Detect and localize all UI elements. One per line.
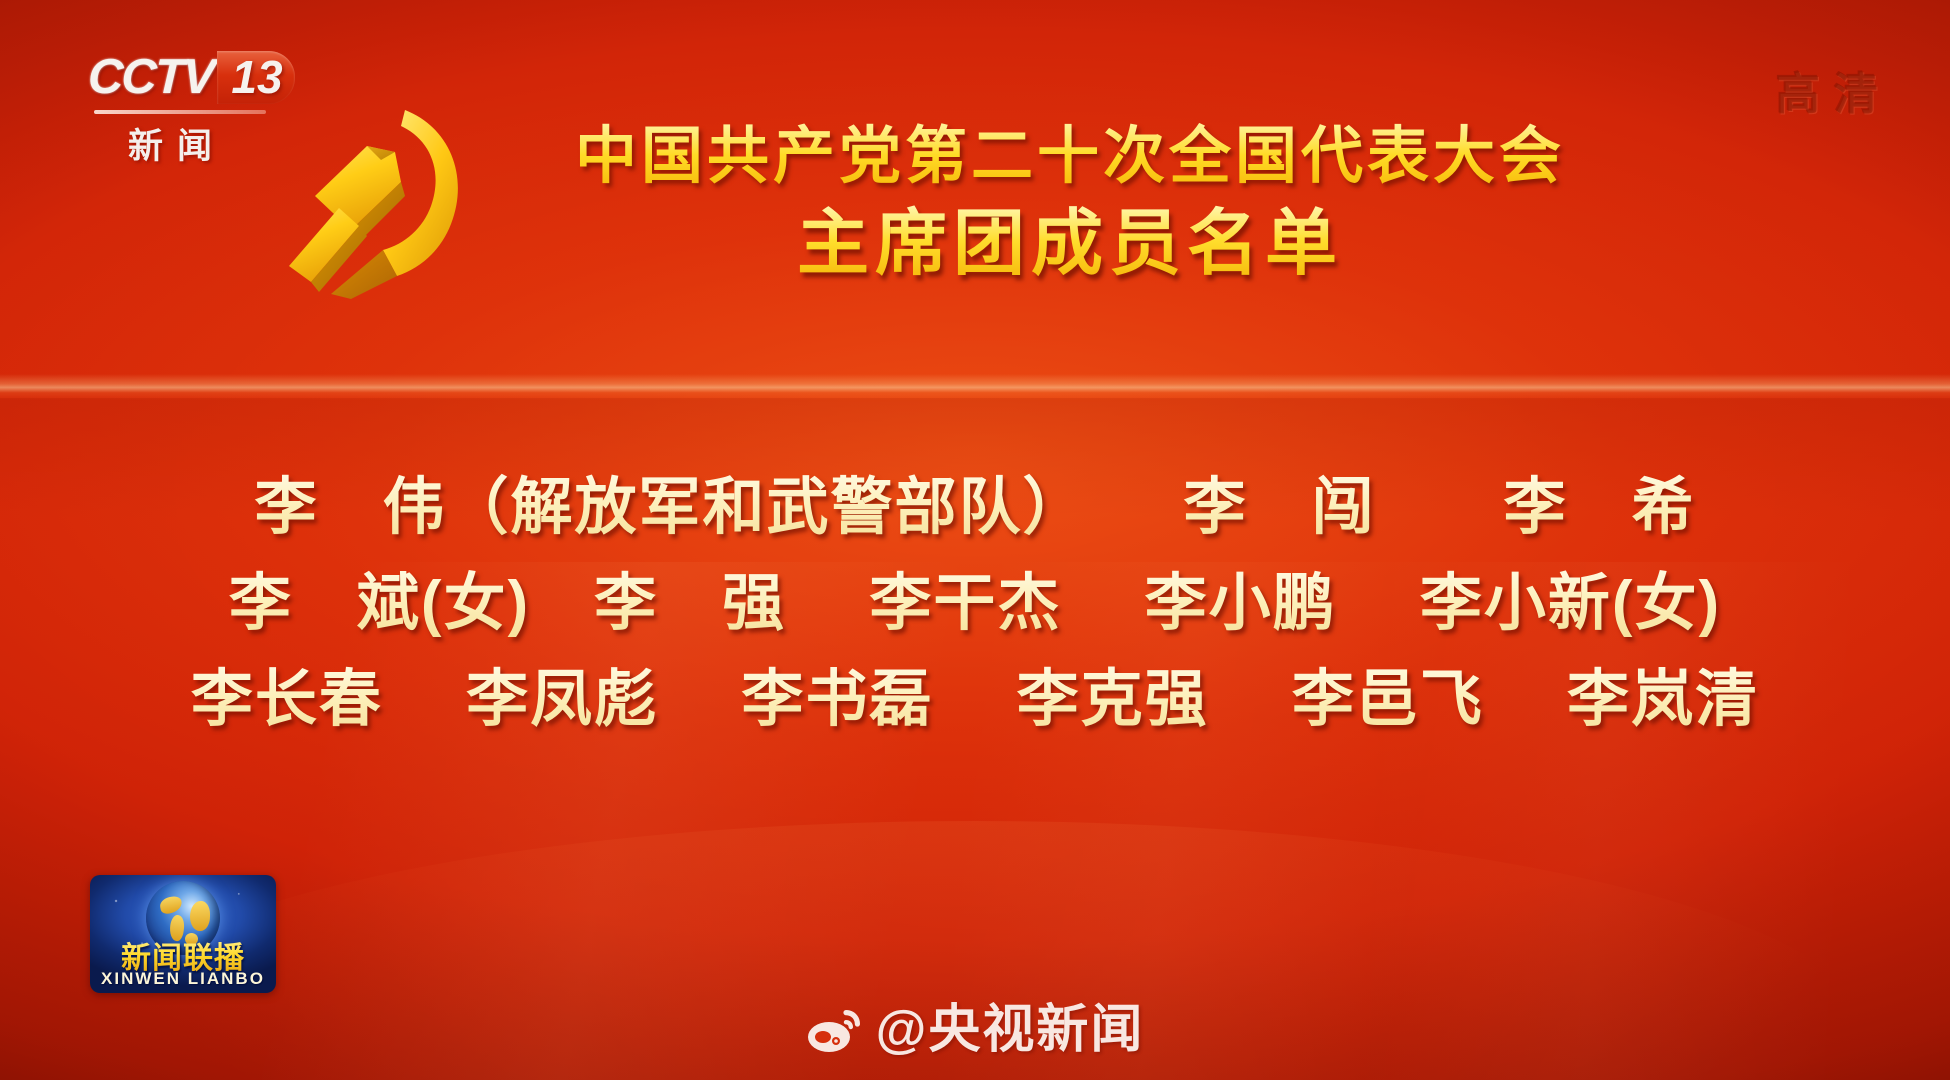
cctv-letters: CCTV — [87, 53, 214, 102]
presidium-name-list: 李 伟（解放军和武警部队） 李 闯 李 希 李 斌(女) 李 强 李干杰 李小鹏… — [0, 460, 1950, 748]
header-title-block: 中国共产党第二十次全国代表大会 主席团成员名单 — [480, 120, 1660, 286]
name-row: 李长春 李凤彪 李书磊 李克强 李邑飞 李岚清 — [0, 652, 1950, 748]
social-watermark: @央视新闻 — [0, 1004, 1950, 1056]
congress-title: 中国共产党第二十次全国代表大会 — [480, 120, 1660, 193]
cctv-sub-label: 新闻 — [128, 118, 226, 169]
cctv-wordmark: CCTV 13 — [88, 48, 328, 106]
hammer-and-sickle-icon — [255, 104, 470, 299]
globe-landmass — [190, 901, 210, 931]
page-title: 主席团成员名单 — [480, 203, 1660, 286]
cctv-number-pill: 13 — [217, 51, 294, 104]
cctv-channel-number: 13 — [231, 51, 282, 103]
program-name-en: XINWEN LIANBO — [90, 969, 276, 989]
weibo-icon — [806, 1006, 864, 1054]
globe-landmass — [159, 895, 184, 915]
hd-badge: 高清 — [1776, 58, 1892, 122]
social-handle: @央视新闻 — [876, 1004, 1145, 1056]
cctv-underline-rule — [94, 110, 266, 114]
name-row: 李 斌(女) 李 强 李干杰 李小鹏 李小新(女) — [0, 556, 1950, 652]
xinwen-lianbo-logo: 新闻联播 XINWEN LIANBO — [90, 875, 276, 993]
broadcast-graphic-screen: CCTV 13 新闻 高清 — [0, 0, 1950, 1080]
name-row: 李 伟（解放军和武警部队） 李 闯 李 希 — [0, 460, 1950, 556]
